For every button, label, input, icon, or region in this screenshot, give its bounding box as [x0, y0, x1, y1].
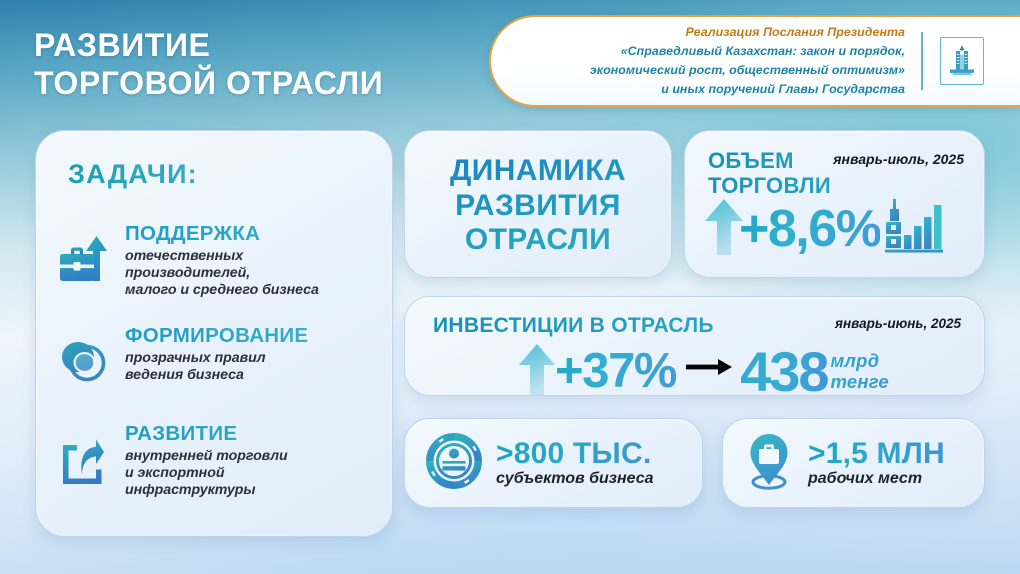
dynamics-line2: РАЗВИТИЯ — [405, 189, 671, 224]
investment-label: ИНВЕСТИЦИИ В ОТРАСЛЬ — [433, 314, 714, 338]
dynamics-title-card: ДИНАМИКА РАЗВИТИЯ ОТРАСЛИ — [404, 130, 672, 278]
badge-line-4: и иных поручений Главы Государства — [661, 82, 905, 96]
task-description: прозрачных правил ведения бизнеса — [125, 350, 388, 384]
stat-text: >1,5 МЛН рабочих мест — [808, 438, 945, 489]
task-item-support: ПОДДЕРЖКА отечественных производителей, … — [58, 221, 388, 299]
task-text-formation: ФОРМИРОВАНИЕ прозрачных правил ведения б… — [125, 323, 388, 392]
investment-card: ИНВЕСТИЦИИ В ОТРАСЛЬ январь-июнь, 2025 +… — [404, 296, 985, 396]
investment-percent: +37% — [555, 347, 676, 396]
stat-card-jobs: >1,5 МЛН рабочих мест — [722, 418, 985, 508]
task-desc-line3: малого и среднего бизнеса — [125, 282, 388, 299]
task-desc-line1: отечественных — [125, 248, 388, 265]
page-title-line1: РАЗВИТИЕ — [34, 26, 383, 64]
stat-number: >1,5 МЛН — [808, 438, 945, 470]
overlapping-circles-icon — [58, 323, 114, 392]
page-header: РАЗВИТИЕ ТОРГОВОЙ ОТРАСЛИ Реализация Пос… — [0, 0, 1020, 118]
investment-unit-line2: тенге — [831, 372, 889, 392]
badge-line-1: Реализация Послания Президента — [491, 23, 905, 42]
task-desc-line2: ведения бизнеса — [125, 367, 388, 384]
badge-divider — [921, 32, 923, 90]
badge-line-3: экономический рост, общественный оптимиз… — [590, 63, 905, 77]
briefcase-growth-arrow-icon — [58, 221, 114, 299]
tasks-heading: ЗАДАЧИ: — [68, 159, 198, 190]
stat-subtitle: рабочих мест — [808, 470, 945, 488]
task-title: ПОДДЕРЖКА — [125, 223, 388, 246]
tasks-panel: ЗАДАЧИ: ПОДДЕРЖКА отечественных производ… — [35, 130, 393, 537]
dynamics-title: ДИНАМИКА РАЗВИТИЯ ОТРАСЛИ — [405, 154, 671, 258]
task-title: РАЗВИТИЕ — [125, 423, 388, 446]
dynamics-line1: ДИНАМИКА — [405, 154, 671, 189]
job-location-pin-icon — [743, 430, 795, 497]
task-description: внутренней торговли и экспортной инфраст… — [125, 448, 388, 499]
investment-period: январь-июнь, 2025 — [835, 316, 961, 331]
investment-amount: 438 — [740, 344, 827, 400]
stat-text: >800 ТЫС. субъектов бизнеса — [496, 438, 654, 489]
dynamics-line3: ОТРАСЛИ — [405, 223, 671, 258]
page-title-line2: ТОРГОВОЙ ОТРАСЛИ — [34, 64, 383, 102]
stat-content: >1,5 МЛН рабочих мест — [723, 419, 984, 507]
task-text-support: ПОДДЕРЖКА отечественных производителей, … — [125, 221, 388, 299]
task-title: ФОРМИРОВАНИЕ — [125, 325, 388, 348]
trade-volume-value: +8,6% — [739, 203, 880, 255]
stat-card-business-entities: >800 ТЫС. субъектов бизнеса — [404, 418, 703, 508]
investment-unit-line1: млрд — [831, 351, 889, 371]
volume-label-line1: ОБЪЕМ — [708, 149, 831, 174]
badge-text: Реализация Послания Президента «Справедл… — [491, 23, 921, 98]
up-arrow-icon — [515, 341, 559, 402]
business-entity-ring-icon — [425, 432, 483, 495]
task-desc-line2: и экспортной — [125, 465, 388, 482]
store-bar-chart-icon — [884, 195, 944, 262]
task-item-formation: ФОРМИРОВАНИЕ прозрачных правил ведения б… — [58, 323, 388, 392]
task-desc-line1: внутренней торговли — [125, 448, 388, 465]
government-building-icon — [940, 37, 984, 85]
trade-volume-card: ОБЪЕМ ТОРГОВЛИ январь-июль, 2025 +8,6% — [684, 130, 985, 278]
page-title: РАЗВИТИЕ ТОРГОВОЙ ОТРАСЛИ — [34, 26, 383, 102]
trade-volume-value-row: +8,6% — [701, 195, 944, 262]
task-text-development: РАЗВИТИЕ внутренней торговли и экспортно… — [125, 421, 388, 499]
right-arrow-icon — [686, 357, 732, 382]
task-desc-line1: прозрачных правил — [125, 350, 388, 367]
investment-unit: млрд тенге — [831, 351, 889, 392]
stat-content: >800 ТЫС. субъектов бизнеса — [405, 419, 702, 507]
task-description: отечественных производителей, малого и с… — [125, 248, 388, 299]
export-share-icon — [58, 421, 114, 499]
stat-number: >800 ТЫС. — [496, 438, 654, 470]
task-desc-line2: производителей, — [125, 265, 388, 282]
task-desc-line3: инфраструктуры — [125, 482, 388, 499]
task-item-development: РАЗВИТИЕ внутренней торговли и экспортно… — [58, 421, 388, 499]
badge-line-2: «Справедливый Казахстан: закон и порядок… — [621, 44, 905, 58]
trade-volume-label: ОБЪЕМ ТОРГОВЛИ — [708, 149, 831, 198]
president-message-badge: Реализация Послания Президента «Справедл… — [489, 15, 1020, 107]
stat-subtitle: субъектов бизнеса — [496, 470, 654, 488]
trade-volume-period: январь-июль, 2025 — [833, 151, 964, 167]
investment-value-row: +37% 438 млрд тенге — [515, 341, 889, 402]
